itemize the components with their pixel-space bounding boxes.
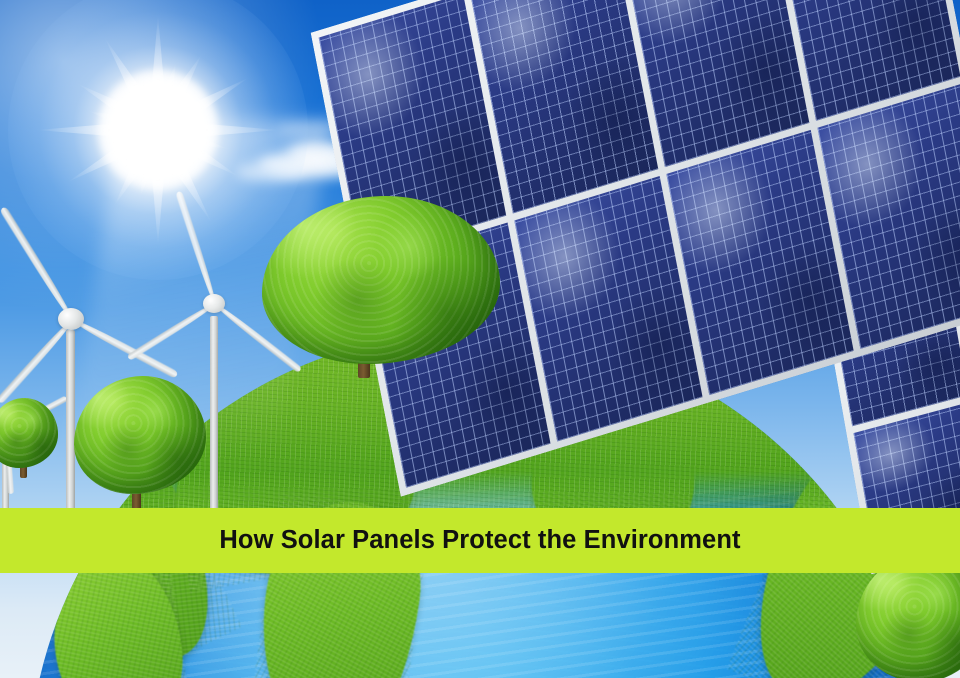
- tree-canopy: [74, 376, 206, 494]
- tree-bottom-right: [856, 556, 960, 678]
- title-banner: How Solar Panels Protect the Environment: [0, 508, 960, 573]
- turbine-blade: [0, 317, 76, 405]
- tree-left-globe: [74, 376, 206, 508]
- turbine-nacelle: [58, 308, 84, 330]
- tree-center-globe: [262, 196, 500, 374]
- turbine-blade: [0, 206, 76, 323]
- tree-canopy: [0, 398, 58, 468]
- tree-far-left: [0, 398, 58, 478]
- poster-canvas: How Solar Panels Protect the Environment: [0, 0, 960, 678]
- tree-canopy: [856, 556, 960, 678]
- page-title: How Solar Panels Protect the Environment: [219, 528, 740, 554]
- tree-canopy: [262, 196, 500, 364]
